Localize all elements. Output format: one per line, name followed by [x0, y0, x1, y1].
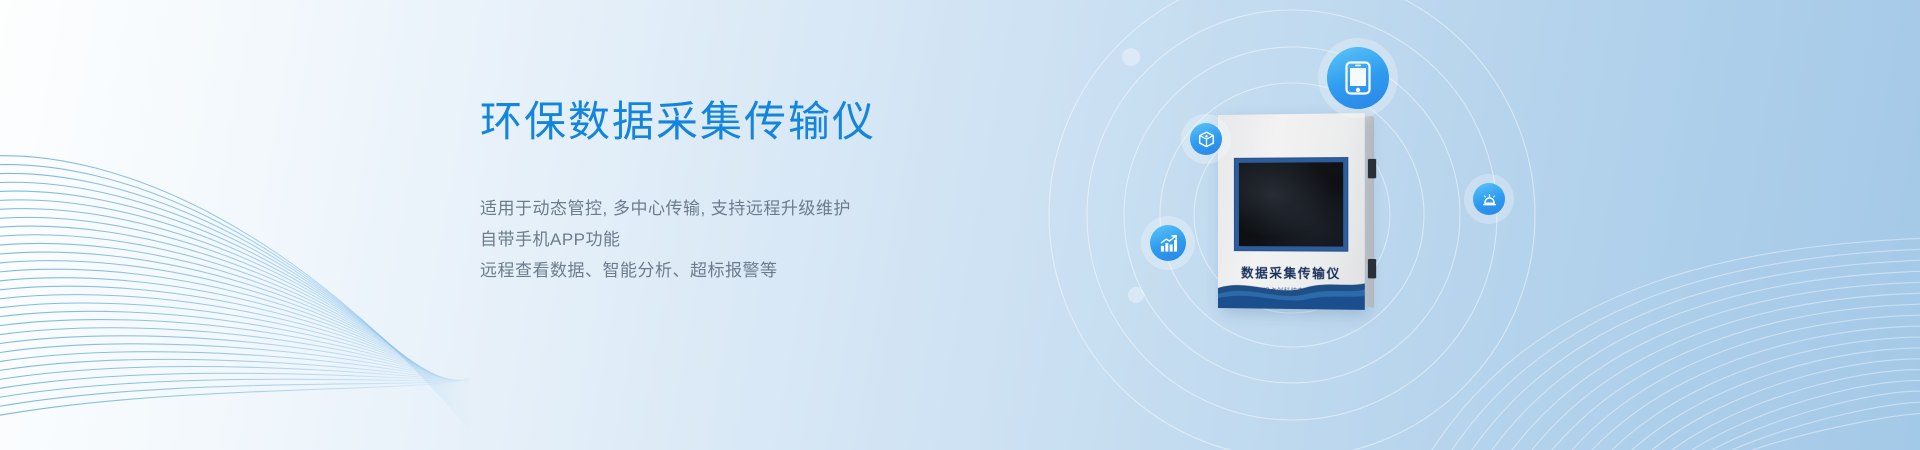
feature-list: 适用于动态管控, 多中心传输, 支持远程升级维护 自带手机APP功能 远程查看数… — [480, 193, 1100, 286]
feature-item-2: 自带手机APP功能 — [480, 224, 1100, 255]
decor-bubble-small — [1128, 287, 1144, 303]
badge-mobile-app[interactable] — [1327, 47, 1389, 109]
device-screen-bezel — [1234, 157, 1348, 252]
banner-copy: 环保数据采集传输仪 适用于动态管控, 多中心传输, 支持远程升级维护 自带手机A… — [480, 96, 1100, 286]
decor-bubble-large — [1122, 48, 1140, 66]
smartphone-icon — [1345, 61, 1371, 95]
badge-data-analysis[interactable] — [1150, 225, 1186, 261]
feature-item-1: 适用于动态管控, 多中心传输, 支持远程升级维护 — [480, 193, 1100, 224]
cube-icon — [1198, 131, 1215, 148]
data-acquisition-device: 数据采集传输仪 —无锡点创科技有限公司— — [1218, 113, 1365, 310]
feature-item-3: 远程查看数据、智能分析、超标报警等 — [480, 255, 1100, 286]
bar-chart-icon — [1159, 234, 1178, 253]
device-screen — [1239, 162, 1343, 246]
badge-product-box[interactable] — [1190, 123, 1222, 155]
device-hinge-top — [1368, 159, 1376, 178]
product-image-stage: 数据采集传输仪 —无锡点创科技有限公司— — [1150, 0, 1650, 450]
alarm-icon — [1481, 191, 1498, 208]
device-wave-graphic — [1218, 274, 1365, 310]
device-side-panel — [1364, 115, 1374, 308]
badge-over-limit-alarm[interactable] — [1473, 183, 1505, 215]
device-hinge-bottom — [1368, 259, 1376, 278]
device-front-panel: 数据采集传输仪 —无锡点创科技有限公司— — [1218, 113, 1365, 310]
page-title: 环保数据采集传输仪 — [480, 96, 1100, 149]
product-hero-banner: 环保数据采集传输仪 适用于动态管控, 多中心传输, 支持远程升级维护 自带手机A… — [0, 0, 1920, 450]
